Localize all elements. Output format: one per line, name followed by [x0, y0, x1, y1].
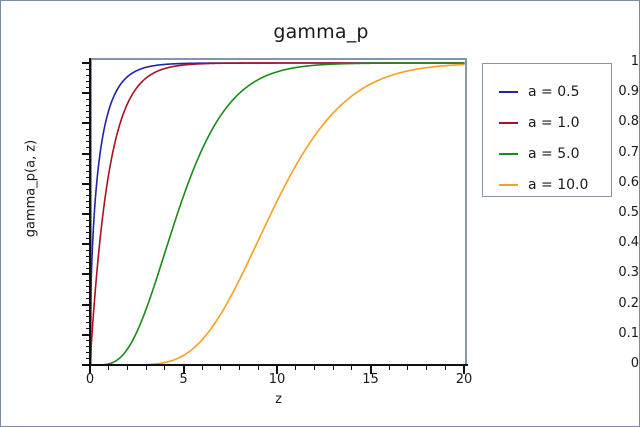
legend-item[interactable]: a = 0.5	[483, 78, 613, 106]
y-tick-major	[82, 273, 90, 275]
y-tick-minor	[86, 117, 90, 118]
x-tick-minor	[239, 366, 240, 370]
x-tick-label: 15	[351, 372, 391, 387]
y-tick-minor	[86, 268, 90, 269]
y-tick-minor	[86, 310, 90, 311]
x-tick-label: 20	[444, 372, 484, 387]
y-tick-label: 0.4	[561, 235, 639, 250]
legend-item-label: a = 1.0	[528, 115, 579, 131]
y-tick-minor	[86, 286, 90, 287]
legend-item-label: a = 5.0	[528, 146, 579, 162]
y-tick-label: 0.2	[561, 296, 639, 311]
y-tick-label: 0.1	[561, 326, 639, 341]
y-tick-label: 0.3	[561, 265, 639, 280]
y-tick-minor	[86, 292, 90, 293]
y-tick-minor	[86, 262, 90, 263]
x-tick-minor	[127, 366, 128, 370]
y-tick-minor	[86, 201, 90, 202]
y-tick-major	[82, 334, 90, 336]
x-tick-minor	[314, 366, 315, 370]
y-tick-minor	[86, 328, 90, 329]
y-tick-label: 0.5	[561, 205, 639, 220]
y-tick-major	[82, 62, 90, 64]
y-tick-minor	[86, 111, 90, 112]
plot-curves	[90, 58, 467, 366]
x-tick-minor	[333, 366, 334, 370]
y-tick-minor	[86, 250, 90, 251]
curve-series-3	[90, 65, 464, 365]
y-tick-major	[82, 153, 90, 155]
y-tick-major	[82, 122, 90, 124]
legend-color-swatch	[499, 91, 518, 93]
y-tick-minor	[86, 141, 90, 142]
y-tick-minor	[86, 171, 90, 172]
legend-item-label: a = 10.0	[528, 177, 588, 193]
legend-item[interactable]: a = 1.0	[483, 109, 613, 137]
y-tick-minor	[86, 207, 90, 208]
x-tick-minor	[351, 366, 352, 370]
legend-color-swatch	[499, 153, 518, 155]
y-tick-minor	[86, 81, 90, 82]
y-tick-minor	[86, 226, 90, 227]
y-tick-minor	[86, 238, 90, 239]
y-tick-minor	[86, 189, 90, 190]
y-tick-minor	[86, 195, 90, 196]
y-tick-minor	[86, 105, 90, 106]
y-tick-minor	[86, 298, 90, 299]
y-tick-minor	[86, 358, 90, 359]
y-tick-minor	[86, 135, 90, 136]
legend-color-swatch	[499, 122, 518, 124]
x-tick-minor	[295, 366, 296, 370]
y-tick-minor	[86, 340, 90, 341]
y-tick-major	[82, 304, 90, 306]
y-tick-label: 0	[561, 356, 639, 371]
y-tick-minor	[86, 99, 90, 100]
legend-color-swatch	[499, 184, 518, 186]
y-tick-major	[82, 213, 90, 215]
x-tick-minor	[220, 366, 221, 370]
x-tick-minor	[258, 366, 259, 370]
y-tick-minor	[86, 256, 90, 257]
y-tick-minor	[86, 280, 90, 281]
chart-window: gamma_p 00.10.20.30.40.50.60.70.80.91 05…	[0, 0, 640, 427]
legend-item-label: a = 0.5	[528, 84, 579, 100]
y-tick-minor	[86, 316, 90, 317]
y-tick-minor	[86, 177, 90, 178]
x-tick-minor	[146, 366, 147, 370]
y-tick-minor	[86, 220, 90, 221]
y-tick-minor	[86, 232, 90, 233]
legend-item[interactable]: a = 10.0	[483, 171, 613, 199]
y-tick-major	[82, 243, 90, 245]
x-tick-minor	[164, 366, 165, 370]
y-tick-minor	[86, 87, 90, 88]
x-axis-title: z	[90, 392, 467, 407]
x-tick-minor	[407, 366, 408, 370]
curve-series-0	[90, 63, 464, 365]
x-tick-label: 10	[257, 372, 297, 387]
x-tick-minor	[445, 366, 446, 370]
chart-title: gamma_p	[1, 21, 640, 43]
y-tick-minor	[86, 69, 90, 70]
y-tick-minor	[86, 322, 90, 323]
legend-item[interactable]: a = 5.0	[483, 140, 613, 168]
curve-series-2	[90, 63, 464, 365]
y-tick-minor	[86, 129, 90, 130]
x-tick-minor	[426, 366, 427, 370]
y-tick-minor	[86, 159, 90, 160]
curve-series-1	[90, 63, 464, 365]
x-tick-minor	[108, 366, 109, 370]
legend-box: a = 0.5a = 1.0a = 5.0a = 10.0	[482, 63, 612, 197]
y-tick-minor	[86, 165, 90, 166]
y-tick-major	[82, 183, 90, 185]
y-tick-minor	[86, 147, 90, 148]
x-tick-minor	[389, 366, 390, 370]
x-tick-label: 5	[164, 372, 204, 387]
y-axis-title: gamma_p(a, z)	[24, 99, 39, 279]
y-tick-minor	[86, 75, 90, 76]
x-tick-minor	[202, 366, 203, 370]
y-tick-major	[82, 92, 90, 94]
y-tick-minor	[86, 352, 90, 353]
x-tick-label: 0	[70, 372, 110, 387]
y-tick-minor	[86, 346, 90, 347]
